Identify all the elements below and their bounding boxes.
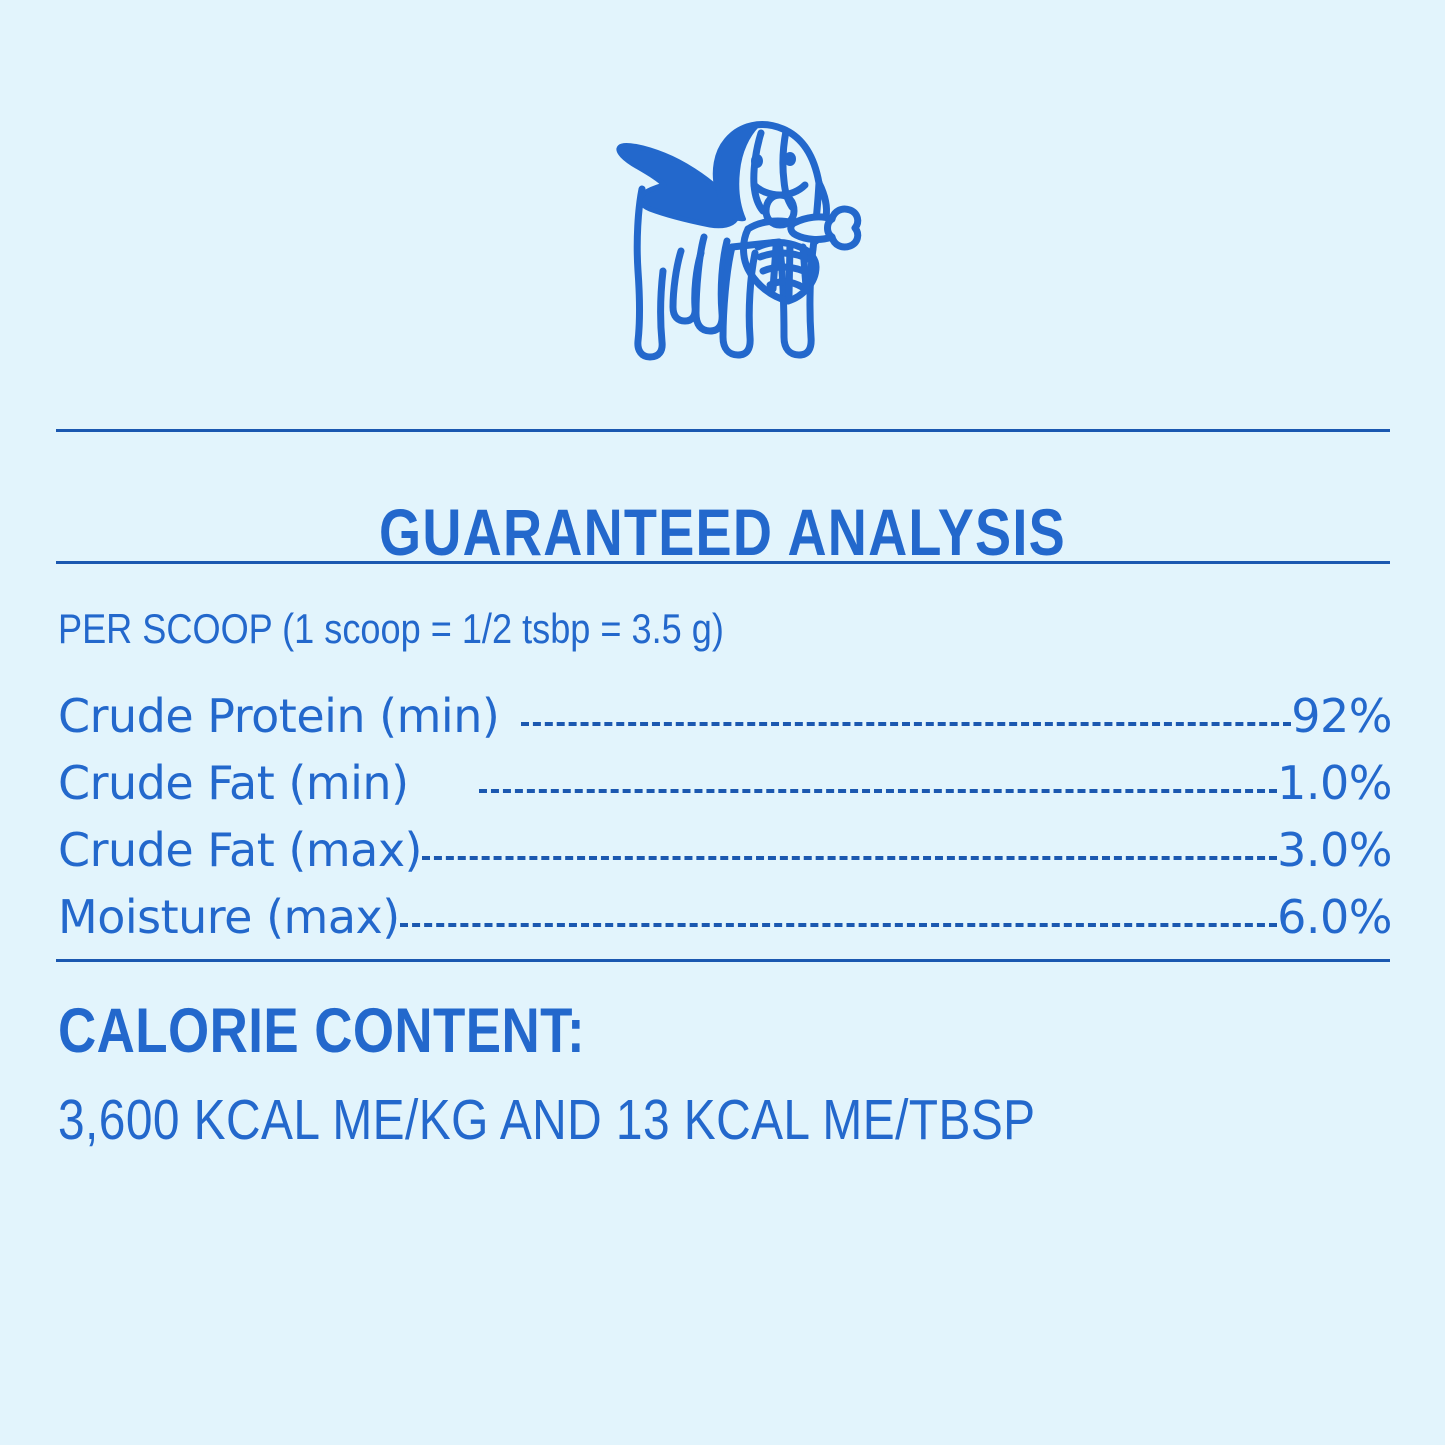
calorie-content-value: 3,600 KCAL ME/KG AND 13 KCAL ME/TBSP xyxy=(58,1092,1036,1149)
divider-under-title xyxy=(56,561,1390,564)
leader-dots xyxy=(521,686,1291,732)
table-row: Crude Fat (max) 3.0% xyxy=(58,820,1392,887)
table-row: Crude Fat (min) 1.0% xyxy=(58,753,1392,820)
nutrient-label: Moisture (max) xyxy=(58,890,400,944)
dog-with-bone-logo xyxy=(0,92,1445,392)
nutrient-value: 92% xyxy=(1291,689,1392,743)
guaranteed-analysis-table: Crude Protein (min) 92% Crude Fat (min) … xyxy=(58,686,1392,954)
nutrient-value: 6.0% xyxy=(1277,890,1392,944)
page-title: GUARANTEED ANALYSIS xyxy=(130,499,1315,565)
nutrient-label: Crude Fat (min) xyxy=(58,756,409,810)
leader-dots xyxy=(422,820,1277,866)
divider-above-calories xyxy=(56,959,1390,962)
nutrient-label: Crude Protein (min) xyxy=(58,689,499,743)
divider-top xyxy=(56,429,1390,432)
nutrient-value: 3.0% xyxy=(1277,823,1392,877)
leader-dots xyxy=(479,753,1278,799)
table-row: Moisture (max) 6.0% xyxy=(58,887,1392,954)
leader-dots xyxy=(400,887,1277,933)
nutrient-value: 1.0% xyxy=(1277,756,1392,810)
table-row: Crude Protein (min) 92% xyxy=(58,686,1392,753)
nutrient-label: Crude Fat (max) xyxy=(58,823,422,877)
calorie-content-heading: CALORIE CONTENT: xyxy=(58,1000,585,1063)
serving-size-note: PER SCOOP (1 scoop = 1/2 tsbp = 3.5 g) xyxy=(58,608,724,650)
guaranteed-analysis-panel: GUARANTEED ANALYSIS PER SCOOP (1 scoop =… xyxy=(0,0,1445,1445)
